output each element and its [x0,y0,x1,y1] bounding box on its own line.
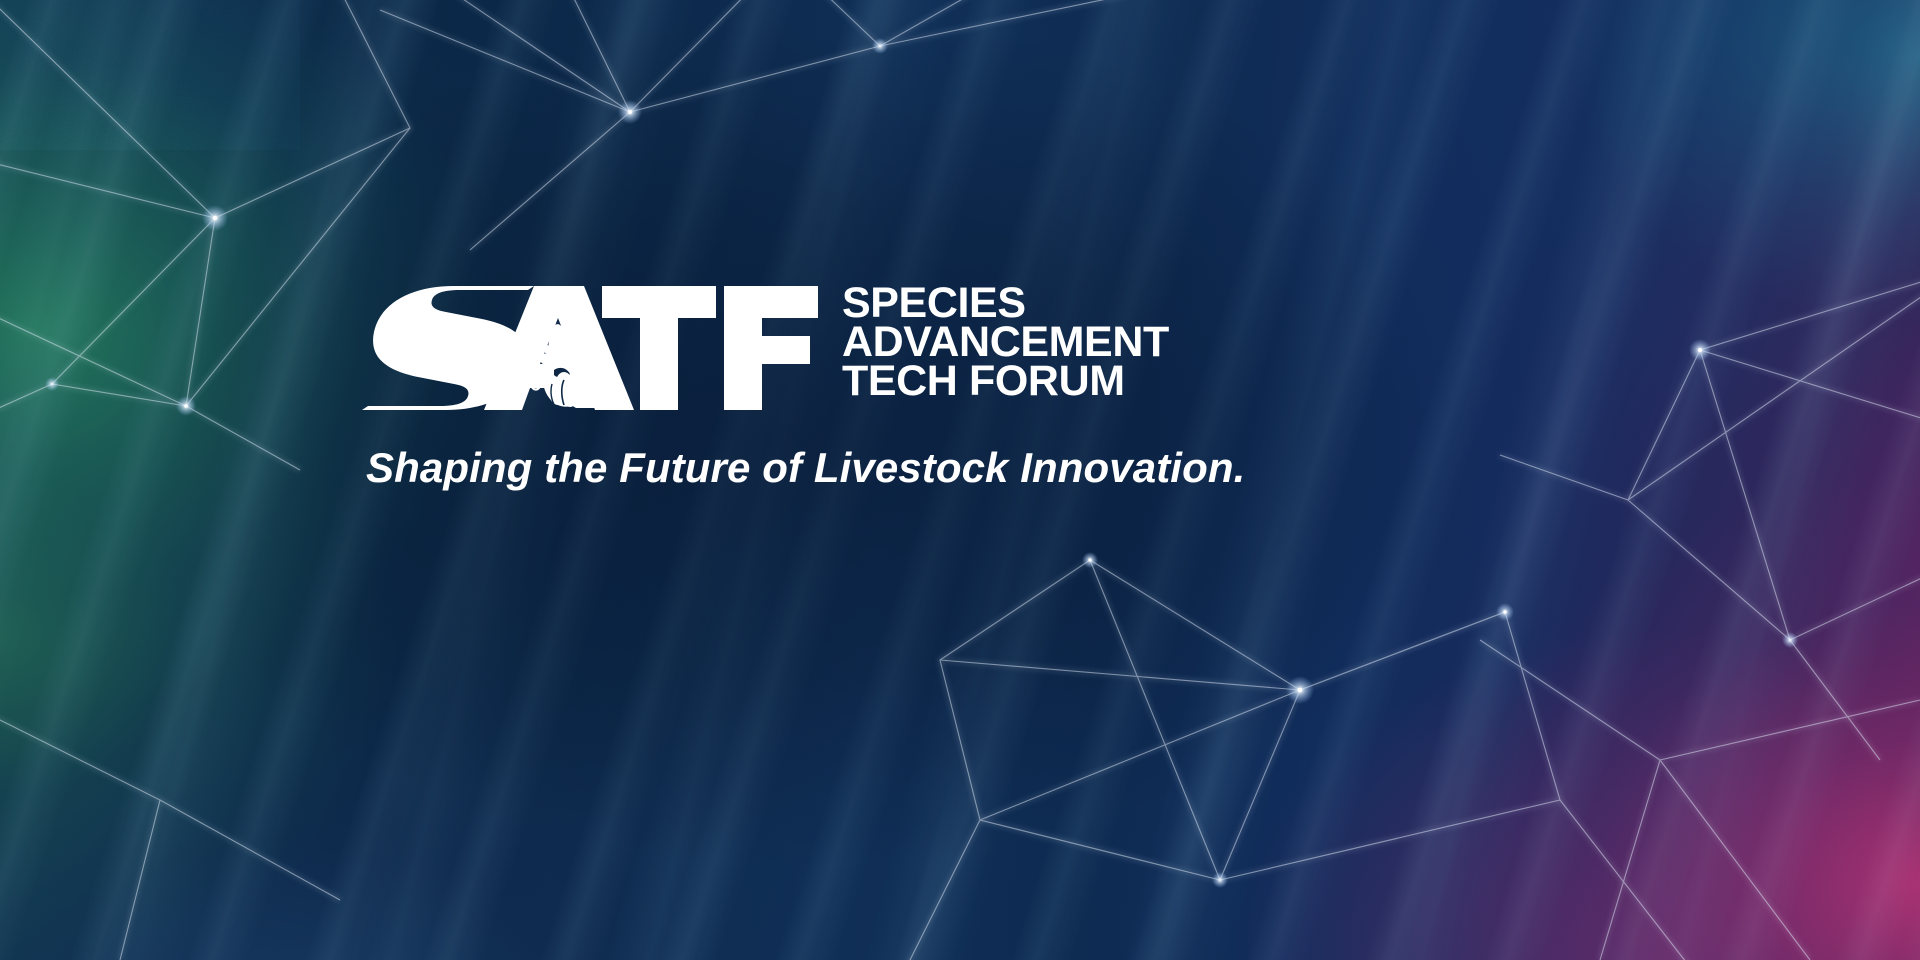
logo-lockup: SPECIES ADVANCEMENT TECH FORUM Shaping t… [362,278,1562,492]
org-line-tech-forum: TECH FORUM [842,362,1169,401]
satf-event-banner: SPECIES ADVANCEMENT TECH FORUM Shaping t… [0,0,1920,960]
wordmark-row: SPECIES ADVANCEMENT TECH FORUM [362,278,1562,410]
background-grain-texture [0,0,300,150]
satf-wordmark-icon [362,278,818,410]
tagline: Shaping the Future of Livestock Innovati… [366,444,1562,492]
organization-name-block: SPECIES ADVANCEMENT TECH FORUM [842,284,1169,401]
